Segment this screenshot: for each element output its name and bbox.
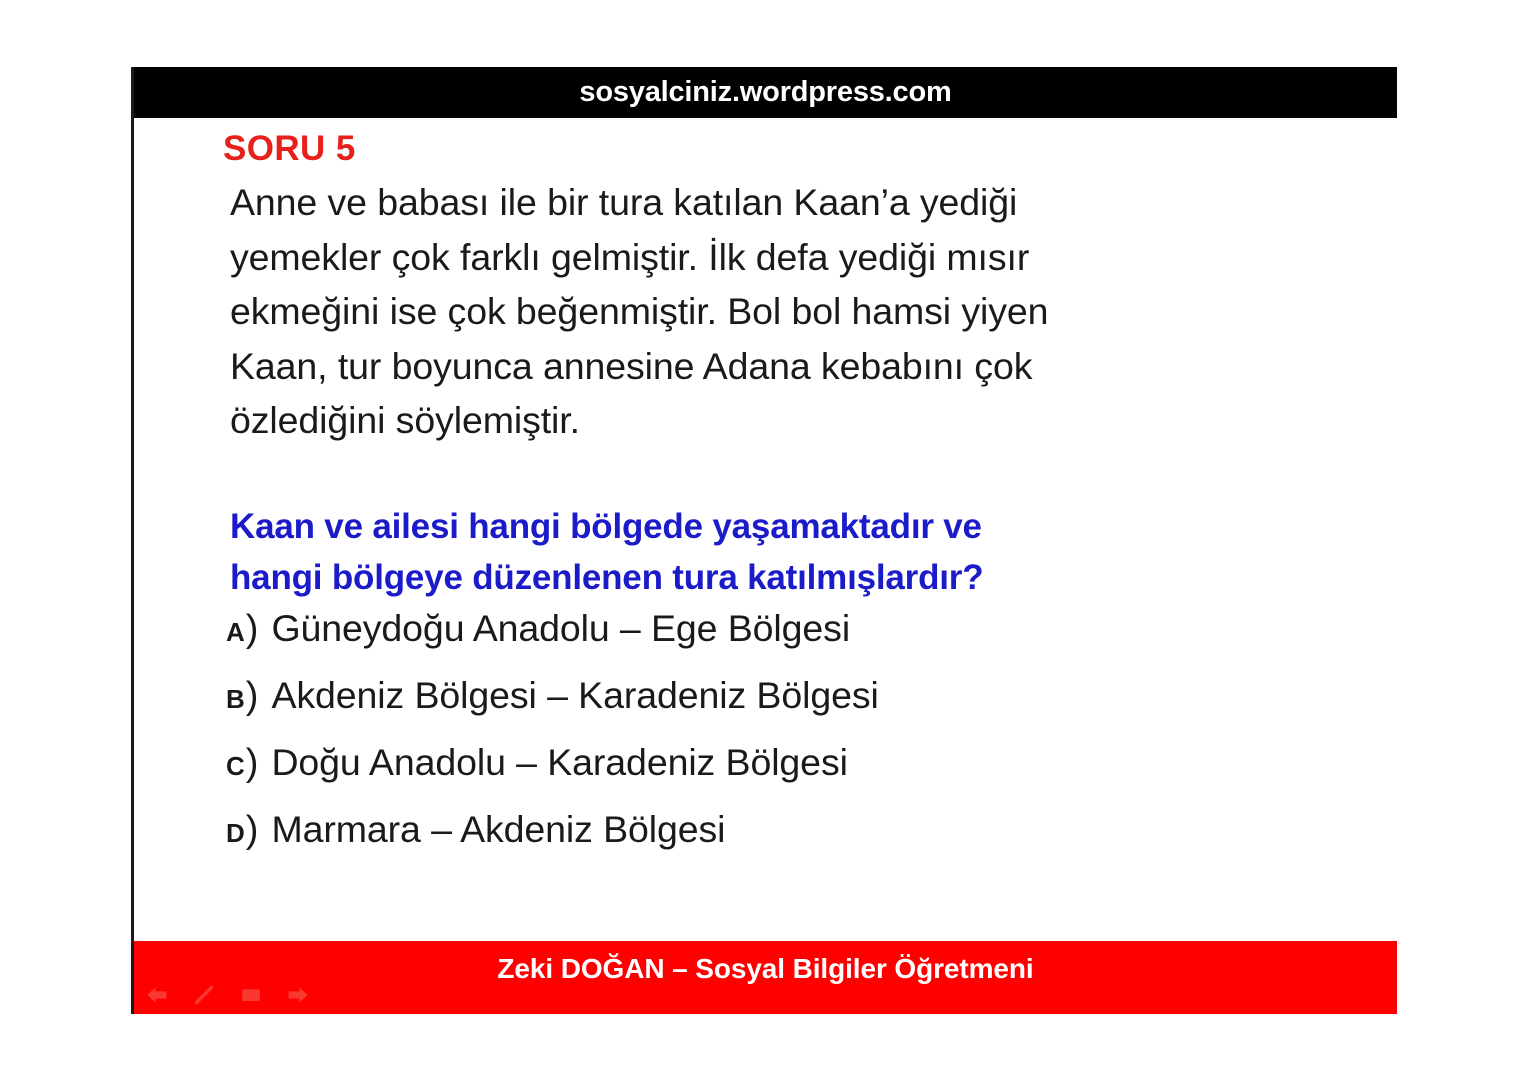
answer-option-c-letter: C: [226, 753, 245, 779]
presentation-slide: sosyalciniz.wordpress.com SORU 5 Anne ve…: [131, 67, 1397, 1014]
presenter-controls: [144, 982, 311, 1008]
answer-option-c-marker: C ): [226, 744, 258, 782]
slide-stage: sosyalciniz.wordpress.com SORU 5 Anne ve…: [0, 0, 1527, 1080]
site-header-bar: sosyalciniz.wordpress.com: [134, 67, 1397, 118]
next-slide-icon[interactable]: [285, 982, 311, 1008]
answer-option-a-marker: A ): [226, 610, 258, 648]
answer-option-d[interactable]: D ) Marmara – Akdeniz Bölgesi: [226, 811, 1226, 878]
answer-option-d-marker: D ): [226, 811, 258, 849]
answer-option-a[interactable]: A ) Güneydoğu Anadolu – Ege Bölgesi: [226, 610, 1226, 677]
pen-tool-icon[interactable]: [191, 982, 217, 1008]
author-credit-text: Zeki DOĞAN – Sosyal Bilgiler Öğretmeni: [134, 955, 1397, 983]
answer-option-c-text: Doğu Anadolu – Karadeniz Bölgesi: [271, 744, 847, 782]
answer-option-b-paren: ): [246, 677, 259, 715]
answer-option-b-letter: B: [226, 686, 245, 712]
site-url-text: sosyalciniz.wordpress.com: [579, 78, 951, 107]
passage-line-2: yemekler çok farklı gelmiştir. İlk defa …: [230, 230, 1180, 285]
passage-line-4: Kaan, tur boyunca annesine Adana kebabın…: [230, 339, 1180, 394]
slide-menu-icon[interactable]: [238, 982, 264, 1008]
question-number-label: SORU 5: [223, 131, 356, 166]
answer-option-c[interactable]: C ) Doğu Anadolu – Karadeniz Bölgesi: [226, 744, 1226, 811]
answer-option-b-marker: B ): [226, 677, 258, 715]
answer-option-b[interactable]: B ) Akdeniz Bölgesi – Karadeniz Bölgesi: [226, 677, 1226, 744]
passage-line-1: Anne ve babası ile bir tura katılan Kaan…: [230, 175, 1180, 230]
answer-option-d-paren: ): [246, 811, 259, 849]
previous-slide-icon[interactable]: [144, 982, 170, 1008]
passage-line-3: ekmeğini ise çok beğenmiştir. Bol bol ha…: [230, 284, 1180, 339]
answer-option-b-text: Akdeniz Bölgesi – Karadeniz Bölgesi: [271, 677, 878, 715]
slide-content-area: SORU 5 Anne ve babası ile bir tura katıl…: [134, 118, 1397, 941]
answer-option-a-paren: ): [246, 610, 259, 648]
answer-option-d-text: Marmara – Akdeniz Bölgesi: [271, 811, 725, 849]
answer-option-d-letter: D: [226, 820, 245, 846]
answer-option-a-letter: A: [226, 619, 245, 645]
prompt-line-1: Kaan ve ailesi hangi bölgede yaşamaktadı…: [230, 501, 1190, 552]
answer-option-a-text: Güneydoğu Anadolu – Ege Bölgesi: [271, 610, 850, 648]
answer-options-list: A ) Güneydoğu Anadolu – Ege Bölgesi B ) …: [226, 610, 1226, 878]
footer-bar: Zeki DOĞAN – Sosyal Bilgiler Öğretmeni: [134, 941, 1397, 1014]
question-prompt: Kaan ve ailesi hangi bölgede yaşamaktadı…: [230, 501, 1190, 603]
answer-option-c-paren: ): [246, 744, 259, 782]
passage-line-5: özlediğini söylemiştir.: [230, 393, 1180, 448]
question-passage: Anne ve babası ile bir tura katılan Kaan…: [230, 175, 1180, 448]
prompt-line-2: hangi bölgeye düzenlenen tura katılmışla…: [230, 552, 1190, 603]
